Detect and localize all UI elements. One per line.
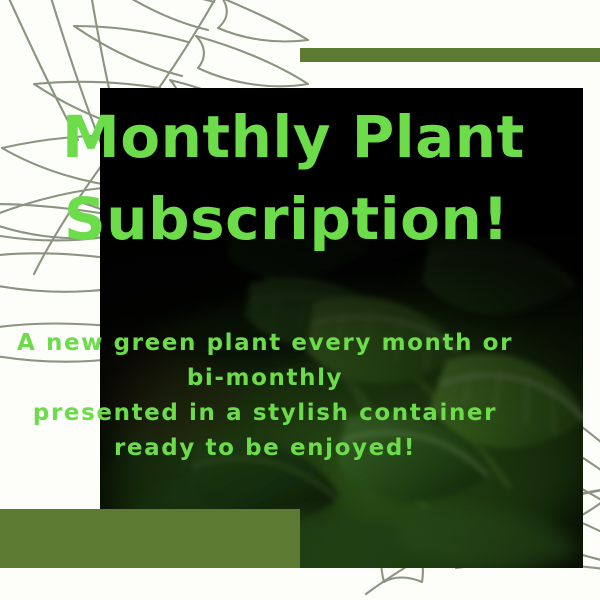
- title-line-1: Monthly Plant: [56, 96, 556, 178]
- olive-bottom-block: [0, 509, 300, 568]
- title-line-2: Subscription!: [56, 178, 556, 260]
- body-line-2: bi-monthly: [0, 361, 530, 396]
- body-line-4: ready to be enjoyed!: [0, 431, 530, 466]
- page-title: Monthly Plant Subscription!: [56, 96, 556, 261]
- body-copy: A new green plant every month or bi-mont…: [0, 326, 530, 466]
- body-line-3: presented in a stylish container: [0, 396, 530, 431]
- poster-canvas: Monthly Plant Subscription! A new green …: [0, 0, 600, 600]
- body-line-1: A new green plant every month or: [0, 326, 530, 361]
- olive-top-bar: [300, 48, 600, 62]
